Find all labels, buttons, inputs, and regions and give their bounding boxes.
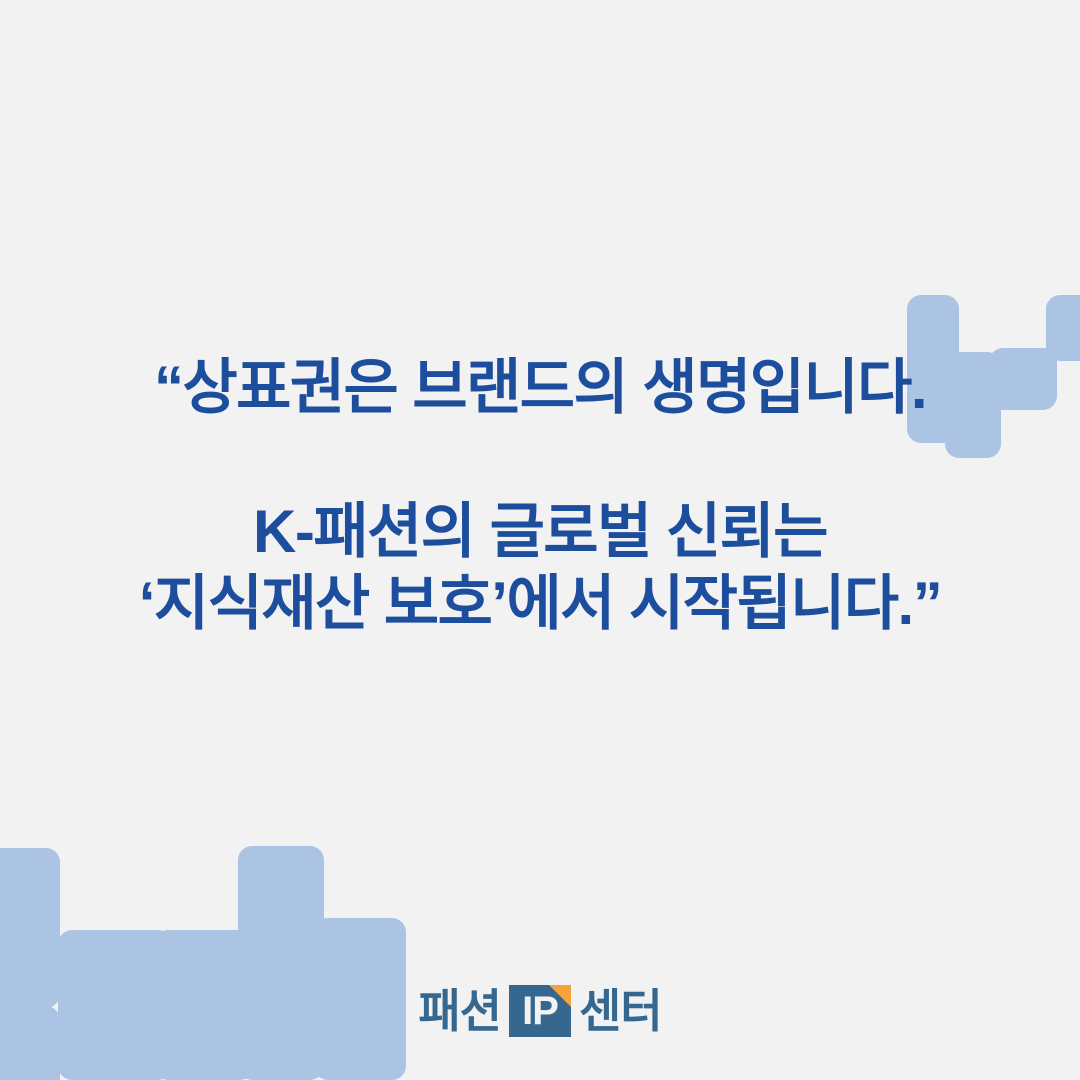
quote-line-2: K-패션의 글로벌 신뢰는 <box>0 496 1080 568</box>
logo-corner-fold-icon <box>549 985 571 1007</box>
logo-ip-mark-icon: IP <box>509 985 571 1037</box>
decoration-bottom-left-block-5 <box>238 846 324 954</box>
quote-card: “상표권은 브랜드의 생명입니다. K-패션의 글로벌 신뢰는 ‘지식재산 보호… <box>0 0 1080 1080</box>
quote-line-3: ‘지식재산 보호’에서 시작됩니다.” <box>0 568 1080 640</box>
quote-line-1: “상표권은 브랜드의 생명입니다. <box>0 352 1080 424</box>
brand-logo: 패션 IP 센터 <box>0 982 1080 1040</box>
quote-block: “상표권은 브랜드의 생명입니다. K-패션의 글로벌 신뢰는 ‘지식재산 보호… <box>0 352 1080 640</box>
quote-spacer <box>0 424 1080 496</box>
logo-word-right: 센터 <box>579 986 662 1036</box>
logo-word-left: 패션 <box>418 986 501 1036</box>
